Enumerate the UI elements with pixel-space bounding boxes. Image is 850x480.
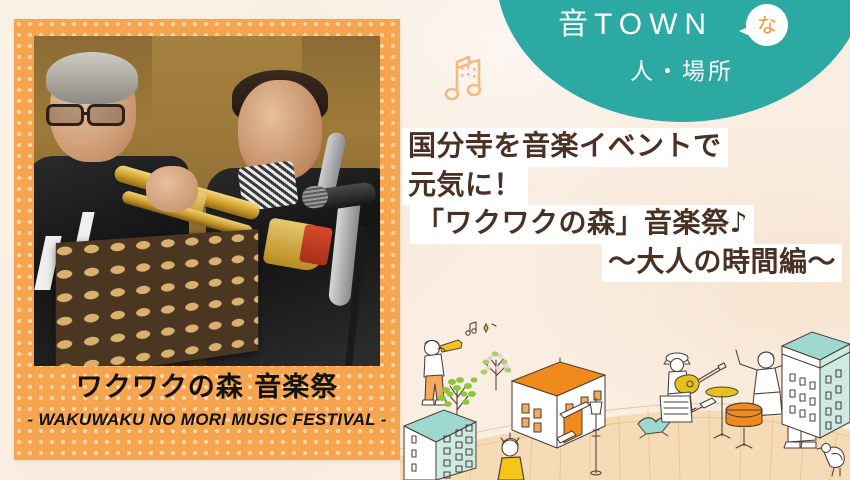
badge-logo-kanji: 音 — [558, 10, 588, 40]
title-line-2: 元気に！ — [402, 167, 842, 206]
badge-logo-word: TOWN — [594, 10, 713, 40]
oto-town-badge[interactable]: 音 TOWN な 人・場所 — [496, 0, 850, 122]
music-notes-icon — [466, 322, 496, 335]
title-line-4-text: 〜大人の時間編〜 — [602, 244, 842, 283]
poster-stage: .ln { fill:none; stroke:#4a4038; stroke-… — [0, 0, 850, 480]
speech-bubble-char: な — [757, 15, 777, 35]
photo-card[interactable]: ワクワクの森 音楽祭 - WAKUWAKU NO MORI MUSIC FEST… — [14, 19, 400, 460]
beamed-eighth-notes-icon — [443, 53, 489, 107]
illustration-tower-building-right — [782, 332, 850, 438]
title-line-4: 〜大人の時間編〜 — [402, 244, 842, 283]
badge-logo: 音 TOWN — [558, 10, 713, 40]
caption-english: - WAKUWAKU NO MORI MUSIC FESTIVAL - — [14, 410, 400, 430]
title-line-1: 国分寺を音楽イベントで — [402, 128, 842, 167]
illustration-apartment-building-left — [404, 410, 476, 480]
illustration-blossom-tree — [481, 351, 512, 390]
title-line-2-text: 元気に！ — [402, 167, 528, 206]
poster-title: 国分寺を音楽イベントで 元気に！ 「ワクワクの森」音楽祭♪ 〜大人の時間編〜 — [402, 128, 842, 282]
caption-japanese: ワクワクの森 音楽祭 — [14, 371, 400, 405]
title-line-3-text: 「ワクワクの森」音楽祭♪ — [410, 205, 754, 244]
townscape-illustration: .ln { fill:none; stroke:#4a4038; stroke-… — [400, 318, 850, 480]
badge-subtitle: 人・場所 — [496, 52, 850, 86]
festival-photo — [34, 36, 380, 366]
title-line-1-text: 国分寺を音楽イベントで — [402, 128, 728, 167]
speech-bubble-icon: な — [746, 4, 788, 46]
photo-caption: ワクワクの森 音楽祭 - WAKUWAKU NO MORI MUSIC FEST… — [14, 371, 400, 430]
title-line-3: 「ワクワクの森」音楽祭♪ — [410, 205, 842, 244]
badge-content: 音 TOWN な 人・場所 — [496, 0, 850, 122]
